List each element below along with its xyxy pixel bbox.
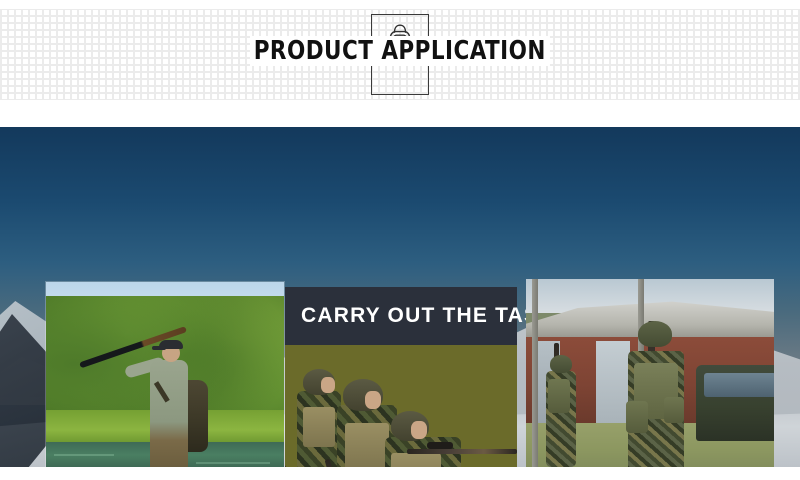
header-top-fade xyxy=(0,0,800,9)
page-footer-strip xyxy=(0,467,800,480)
panel-image-carry-out-the-task xyxy=(285,345,517,467)
page-header: PRODUCT APPLICATION xyxy=(0,0,800,127)
header-bottom-fade xyxy=(0,100,800,127)
backpack-icon xyxy=(383,21,417,51)
military-truck-window xyxy=(704,373,774,397)
hunting-hunter-cap-brim xyxy=(152,346,166,350)
application-hero-banner: CARRY OUT THE TASK xyxy=(0,127,800,467)
product-application-page: PRODUCT APPLICATION xyxy=(0,0,800,480)
military-post-left xyxy=(532,279,538,467)
panel-image-military-training xyxy=(526,279,774,467)
label-band-carry-out-the-task: CARRY OUT THE TASK xyxy=(285,287,517,345)
hunting-water-reflection xyxy=(196,462,270,464)
military-barracks-door xyxy=(596,341,630,423)
panel-image-hunting xyxy=(46,282,284,467)
hunting-hunter-body xyxy=(150,360,188,467)
panel-label-carry-out-the-task: CARRY OUT THE TASK xyxy=(301,304,556,328)
hunting-water-reflection xyxy=(54,454,114,456)
